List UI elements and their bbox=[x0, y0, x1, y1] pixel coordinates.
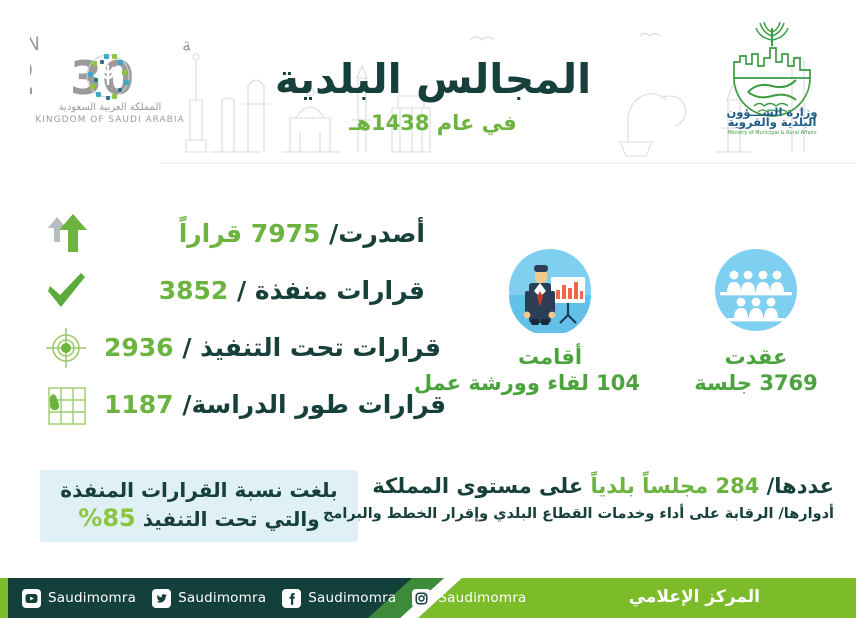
stat-row: أصدرت/ 7975 قراراً bbox=[40, 205, 425, 262]
social-link-facebook[interactable]: Saudimomra bbox=[282, 589, 396, 608]
stat-label: أصدرت/ 7975 قراراً bbox=[104, 219, 425, 248]
sessions-stat-block: عقدت 3769 جلسة bbox=[672, 247, 840, 397]
sessions-caption: عقدت 3769 جلسة bbox=[672, 344, 840, 397]
decisions-stats-list: أصدرت/ 7975 قراراً قرارات منفذة / 3852 bbox=[40, 205, 425, 433]
stat-row: قرارات طور الدراسة/ 1187 bbox=[40, 376, 425, 433]
social-links: Saudimomra Saudimomra Saudimomra Saudimo… bbox=[0, 578, 600, 618]
instagram-icon bbox=[412, 589, 431, 608]
social-handle: Saudimomra bbox=[308, 590, 396, 606]
implementation-rate-text: بلغت نسبة القرارات المنفذة والتي تحت الت… bbox=[50, 477, 347, 534]
footer-bar: المركز الإعلامي Saudimomra Saudimomra Sa… bbox=[0, 578, 856, 618]
implementation-rate-box: بلغت نسبة القرارات المنفذة والتي تحت الت… bbox=[40, 470, 358, 542]
grid-icon bbox=[40, 379, 92, 431]
svg-text:KINGDOM OF SAUDI ARABIA: KINGDOM OF SAUDI ARABIA bbox=[35, 115, 184, 125]
ministry-logo-line-en: Ministry of Municipal & Rural Affairs bbox=[727, 130, 817, 136]
social-handle: Saudimomra bbox=[48, 590, 136, 606]
councils-description: عددها/ 284 مجلساً بلدياً على مستوى الممل… bbox=[378, 473, 834, 524]
stat-row: قرارات منفذة / 3852 bbox=[40, 262, 425, 319]
stat-label: قرارات تحت التنفيذ / 2936 bbox=[104, 333, 441, 362]
title-block: المجالس البلدية في عام 1438هـ bbox=[268, 58, 598, 135]
check-icon bbox=[40, 265, 92, 317]
vision-2030-logo: VISION رؤيــة 2 30 المملكة العربية السع bbox=[30, 28, 190, 128]
percent-value: 85% bbox=[78, 504, 135, 532]
page-subtitle: في عام 1438هـ bbox=[268, 111, 598, 135]
svg-text:رؤيــة: رؤيــة bbox=[182, 35, 190, 56]
social-handle: Saudimomra bbox=[178, 590, 266, 606]
target-icon bbox=[40, 322, 92, 374]
councils-roles-line: أدوارها/ الرقابة على أداء وخدمات القطاع … bbox=[378, 505, 834, 524]
social-link-instagram[interactable]: Saudimomra bbox=[412, 589, 526, 608]
up-arrow-icon bbox=[40, 208, 92, 260]
youtube-icon bbox=[22, 589, 41, 608]
media-center-block: المركز الإعلامي bbox=[556, 578, 856, 618]
media-center-label: المركز الإعلامي bbox=[629, 587, 760, 607]
facebook-icon bbox=[282, 589, 301, 608]
stat-row: قرارات تحت التنفيذ / 2936 bbox=[40, 319, 425, 376]
social-link-youtube[interactable]: Saudimomra bbox=[22, 589, 136, 608]
svg-text:2: 2 bbox=[30, 51, 36, 105]
ministry-of-municipal-rural-affairs-logo: وزارة الشـــؤون البلدية والقروية Ministr… bbox=[712, 18, 832, 136]
social-handle: Saudimomra bbox=[438, 590, 526, 606]
page-title: المجالس البلدية bbox=[268, 58, 598, 101]
svg-text:المملكة العربية السعودية: المملكة العربية السعودية bbox=[59, 102, 162, 113]
presenter-icon bbox=[507, 247, 593, 333]
social-link-twitter[interactable]: Saudimomra bbox=[152, 589, 266, 608]
stat-label: قرارات طور الدراسة/ 1187 bbox=[104, 390, 446, 419]
audience-icon bbox=[713, 247, 799, 333]
councils-count-line: عددها/ 284 مجلساً بلدياً على مستوى الممل… bbox=[378, 473, 834, 499]
ministry-logo-line2: البلدية والقروية bbox=[728, 115, 817, 130]
workshops-stat-block: أقامت 104 لقاء وورشة عمل bbox=[460, 247, 640, 397]
stat-label: قرارات منفذة / 3852 bbox=[104, 276, 425, 305]
infographic-canvas: VISION رؤيــة 2 30 المملكة العربية السع bbox=[0, 0, 856, 618]
twitter-icon bbox=[152, 589, 171, 608]
workshops-caption: أقامت 104 لقاء وورشة عمل bbox=[460, 344, 640, 397]
svg-text:30: 30 bbox=[70, 51, 134, 105]
